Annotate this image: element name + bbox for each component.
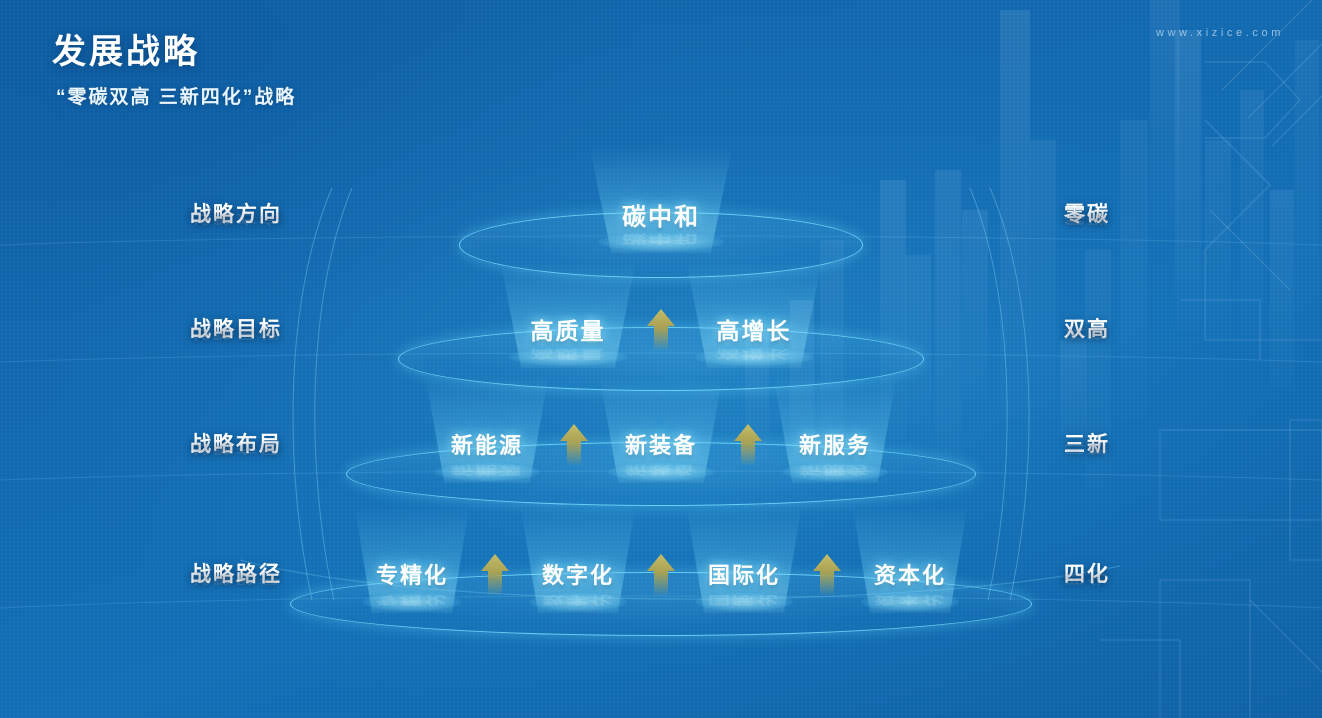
tier-item-label-reflection: 碳中和: [622, 231, 700, 249]
tier-item-label: 高增长: [717, 312, 792, 346]
tier-item[interactable]: 新服务新服务: [765, 405, 905, 483]
tier-item[interactable]: 高增长高增长: [678, 290, 830, 368]
row-left-label-reflection: 战略目标: [190, 327, 282, 344]
tier-item[interactable]: 数字化数字化: [512, 535, 644, 613]
arrow-up-icon: [731, 421, 765, 467]
background-bar: [1120, 120, 1148, 420]
row-items: 专精化专精化数字化数字化国际化国际化资本化资本化: [346, 535, 976, 613]
tier-item-label-reflection: 专精化: [376, 593, 448, 609]
row-right-label: 三新三新: [1064, 428, 1204, 458]
row-left-label-reflection: 战略方向: [190, 212, 282, 229]
row-right-label-reflection: 零碳: [1064, 212, 1110, 229]
background-bar: [1085, 250, 1111, 510]
arrow-up-icon: [478, 551, 512, 597]
background-bar: [1270, 190, 1294, 390]
row-items: 新能源新能源新装备新装备新服务新服务: [417, 405, 905, 483]
background-bar: [905, 255, 931, 425]
tier-item-label: 新能源: [451, 428, 523, 460]
site-watermark: www.xizice.com: [1156, 27, 1284, 39]
tier-item-label-reflection: 高质量: [531, 347, 606, 364]
tier-item[interactable]: 新能源新能源: [417, 405, 557, 483]
row-left-label: 战略方向战略方向: [190, 198, 390, 228]
tier-item[interactable]: 高质量高质量: [492, 290, 644, 368]
tier-item[interactable]: 资本化资本化: [844, 535, 976, 613]
tier-item-label-reflection: 资本化: [874, 593, 946, 609]
tier-item-label: 碳中和: [622, 197, 700, 232]
background-bar: [1000, 10, 1030, 420]
row-right-label: 四化四化: [1064, 558, 1204, 588]
row-right-label-reflection: 四化: [1064, 572, 1110, 589]
row-left-label-reflection: 战略布局: [190, 442, 282, 459]
background-bar: [962, 210, 988, 400]
page-subtitle: “零碳双高 三新四化”战略: [56, 82, 296, 109]
row-right-label-reflection: 双高: [1064, 327, 1110, 344]
background-bar: [1295, 40, 1319, 340]
row-left-label-reflection: 战略路径: [190, 572, 282, 589]
tier-item-label-reflection: 新装备: [625, 463, 697, 479]
row-right-label-reflection: 三新: [1064, 442, 1110, 459]
row-left-label: 战略目标战略目标: [190, 313, 390, 343]
tier-item-label-reflection: 高增长: [717, 347, 792, 364]
slide-canvas: 战略方向战略方向零碳零碳碳中和碳中和战略目标战略目标双高双高高质量高质量高增长高…: [0, 0, 1322, 718]
arrow-up-icon: [810, 551, 844, 597]
row-items: 高质量高质量高增长高增长: [492, 290, 830, 368]
tier-item-label: 高质量: [531, 312, 606, 346]
tier-item[interactable]: 碳中和碳中和: [581, 175, 741, 253]
arrow-up-icon: [644, 306, 678, 352]
background-bar: [1175, 30, 1201, 330]
row-right-label: 双高双高: [1064, 313, 1204, 343]
tier-item[interactable]: 国际化国际化: [678, 535, 810, 613]
background-bar: [1205, 140, 1231, 340]
row-left-label: 战略布局战略布局: [190, 428, 390, 458]
tier-item-label-reflection: 新服务: [799, 463, 871, 479]
tier-item-label: 新服务: [799, 428, 871, 460]
row-right-label: 零碳零碳: [1064, 198, 1204, 228]
tier-item-label: 专精化: [376, 558, 448, 590]
background-bar: [935, 170, 961, 470]
tier-item-label-reflection: 数字化: [542, 593, 614, 609]
tier-item-label: 国际化: [708, 558, 780, 590]
tier-item[interactable]: 专精化专精化: [346, 535, 478, 613]
background-bar: [1240, 90, 1264, 340]
tier-item-label: 新装备: [625, 428, 697, 460]
background-bar: [1030, 140, 1056, 420]
arrow-up-icon: [557, 421, 591, 467]
tier-item-label-reflection: 国际化: [708, 593, 780, 609]
tier-item-label-reflection: 新能源: [451, 463, 523, 479]
tier-item-label: 数字化: [542, 558, 614, 590]
tier-item[interactable]: 新装备新装备: [591, 405, 731, 483]
tier-item-label: 资本化: [874, 558, 946, 590]
row-items: 碳中和碳中和: [581, 175, 741, 253]
arrow-up-icon: [644, 551, 678, 597]
page-title: 发展战略: [52, 24, 200, 73]
